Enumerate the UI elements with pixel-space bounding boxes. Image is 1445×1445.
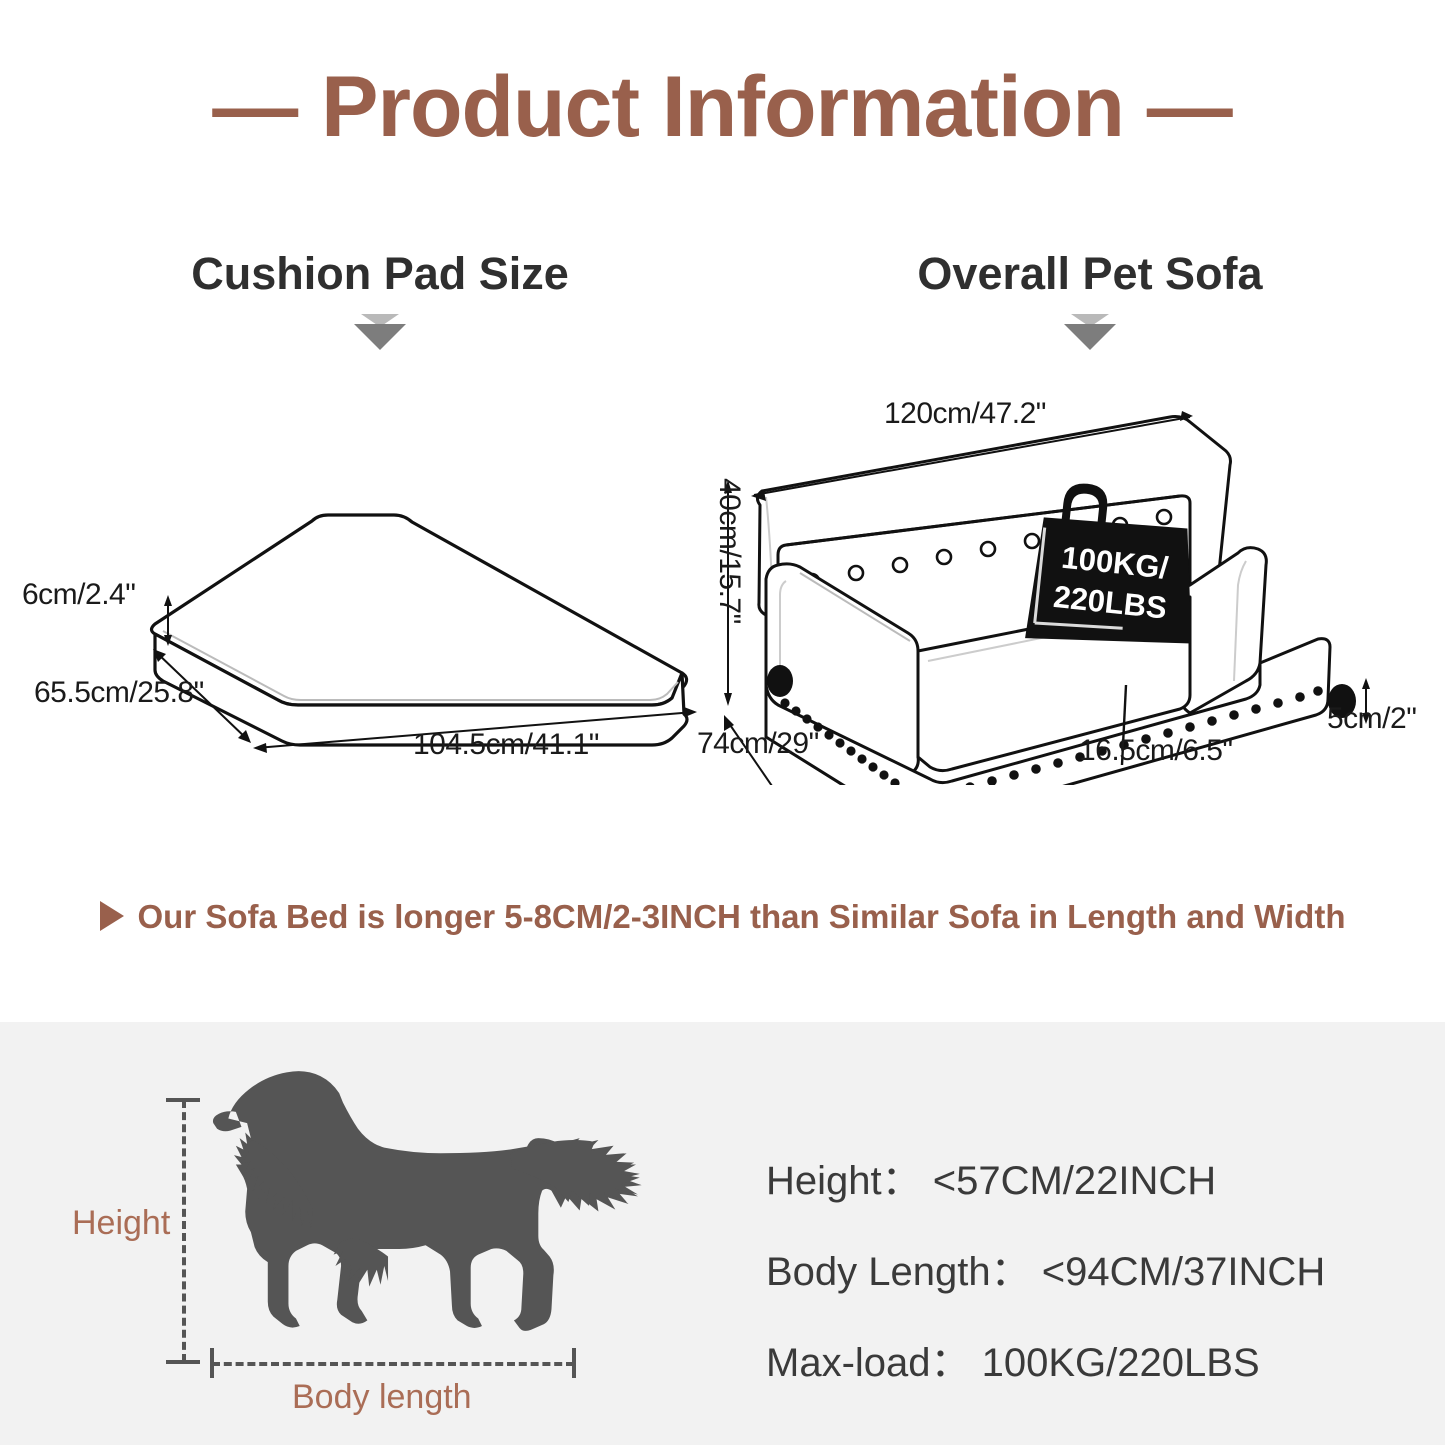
sofa-depth-label: 74cm/29" bbox=[697, 727, 819, 761]
cushion-depth-label: 65.5cm/25.8" bbox=[34, 676, 204, 710]
promo-banner-text: Our Sofa Bed is longer 5-8CM/2-3INCH tha… bbox=[138, 898, 1346, 935]
triangle-right-icon bbox=[100, 901, 124, 931]
double-chevron-down-icon bbox=[1062, 314, 1118, 354]
top-section: — Product Information — Cushion Pad Size… bbox=[0, 0, 1445, 1022]
height-measure-label: Height bbox=[72, 1204, 170, 1243]
page-title-text: Product Information bbox=[321, 59, 1124, 155]
spec-value-max-load: 100KG/220LBS bbox=[982, 1341, 1260, 1385]
sofa-leg-label: 5cm/2" bbox=[1327, 702, 1416, 736]
sofa-section-heading: Overall Pet Sofa bbox=[810, 248, 1370, 300]
title-dash-left: — bbox=[212, 59, 298, 155]
cushion-section-heading: Cushion Pad Size bbox=[100, 248, 660, 300]
cushion-thickness-label: 6cm/2.4" bbox=[22, 578, 135, 612]
spec-value-body-length: <94CM/37INCH bbox=[1042, 1250, 1325, 1294]
cushion-pad-diagram bbox=[60, 500, 740, 770]
pet-sofa-diagram: 100KG/ 220LBS bbox=[690, 385, 1400, 785]
body-length-measure-label: Body length bbox=[292, 1378, 472, 1417]
promo-banner: Our Sofa Bed is longer 5-8CM/2-3INCH tha… bbox=[0, 898, 1445, 936]
spec-row: Body Length： <94CM/37INCH bbox=[766, 1239, 1406, 1297]
body-length-measure-cap-right bbox=[572, 1348, 576, 1378]
height-measure-line bbox=[182, 1100, 186, 1362]
sofa-width-label: 120cm/47.2" bbox=[884, 397, 1046, 431]
sofa-height-label: 40cm/15.7" bbox=[712, 478, 746, 624]
spec-label-max-load: Max-load： bbox=[766, 1341, 971, 1385]
product-information-infographic: — Product Information — Cushion Pad Size… bbox=[0, 0, 1445, 1445]
spec-row: Max-load： 100KG/220LBS bbox=[766, 1330, 1406, 1388]
dog-silhouette-icon bbox=[195, 1048, 675, 1358]
sofa-skirt-label: 16.5cm/6.5" bbox=[1079, 734, 1233, 768]
height-measure-cap-bottom bbox=[166, 1360, 200, 1364]
body-length-measure-line bbox=[212, 1362, 574, 1366]
page-title: — Product Information — bbox=[0, 58, 1445, 157]
spec-row: Height： <57CM/22INCH bbox=[766, 1148, 1406, 1206]
spec-value-height: <57CM/22INCH bbox=[933, 1159, 1216, 1203]
spec-label-height: Height： bbox=[766, 1159, 922, 1203]
title-dash-right: — bbox=[1147, 59, 1233, 155]
double-chevron-down-icon bbox=[352, 314, 408, 354]
pet-spec-list: Height： <57CM/22INCH Body Length： <94CM/… bbox=[766, 1148, 1406, 1421]
cushion-length-label: 104.5cm/41.1" bbox=[413, 728, 599, 762]
spec-label-body-length: Body Length： bbox=[766, 1250, 1031, 1294]
